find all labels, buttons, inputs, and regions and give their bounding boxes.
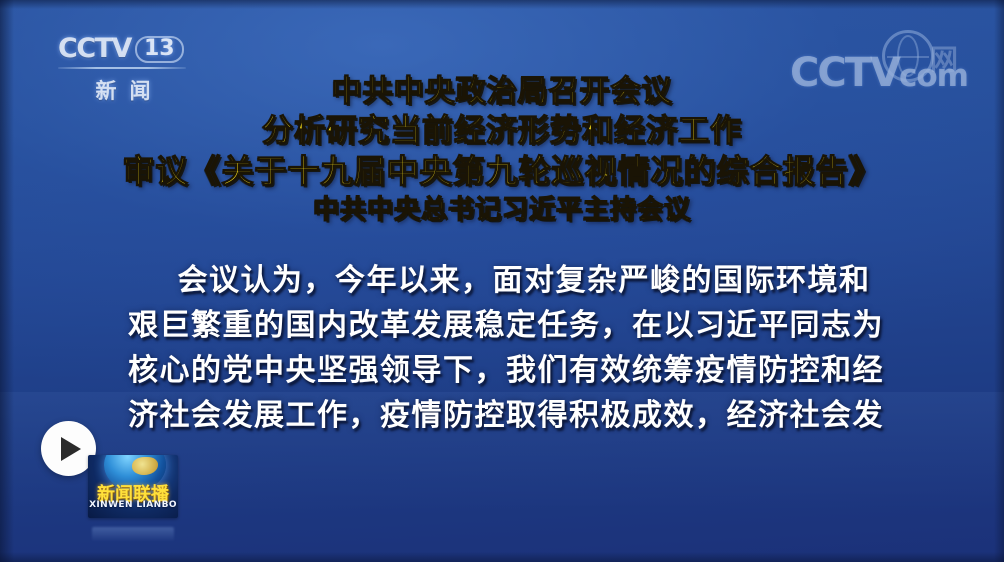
body-line-4: 济社会发展工作，疫情防控取得积极成效，经济社会发 bbox=[112, 393, 900, 438]
channel-number-label: 13 bbox=[135, 36, 184, 63]
body-line-2: 艰巨繁重的国内改革发展稳定任务，在以习近平同志为 bbox=[112, 303, 900, 348]
headline-line-4: 中共中央总书记习近平主持会议 bbox=[0, 195, 1004, 227]
body-line-1: 会议认为，今年以来，面对复杂严峻的国际环境和 bbox=[112, 258, 900, 303]
headline-line-2: 分析研究当前经济形势和经济工作 bbox=[0, 113, 1004, 151]
program-logo-reflection bbox=[92, 527, 174, 541]
channel-brand-label: CCTV bbox=[58, 33, 131, 64]
program-logo-xinwen-lianbo: 新闻联播 XINWEN LIANBO bbox=[88, 455, 178, 518]
body-line-3: 核心的党中央坚强领导下，我们有效统筹疫情防控和经 bbox=[112, 348, 900, 393]
program-logo-en-title: XINWEN LIANBO bbox=[88, 500, 178, 510]
headline-line-1: 中共中央政治局召开会议 bbox=[0, 74, 1004, 111]
channel-bug-row: CCTV 13 bbox=[58, 32, 188, 64]
channel-bug-divider bbox=[58, 67, 186, 69]
video-frame: CCTV 13 新闻 网 CCTVcom 中共中央政治局召开会议 分析研究当前经… bbox=[0, 0, 1004, 562]
headline-block: 中共中央政治局召开会议 分析研究当前经济形势和经济工作 审议《关于十九届中央第九… bbox=[0, 74, 1004, 227]
play-icon bbox=[61, 437, 81, 461]
body-paragraph: 会议认为，今年以来，面对复杂严峻的国际环境和 艰巨繁重的国内改革发展稳定任务，在… bbox=[112, 258, 900, 438]
headline-line-3: 审议《关于十九届中央第九轮巡视情况的综合报告》 bbox=[0, 152, 1004, 191]
